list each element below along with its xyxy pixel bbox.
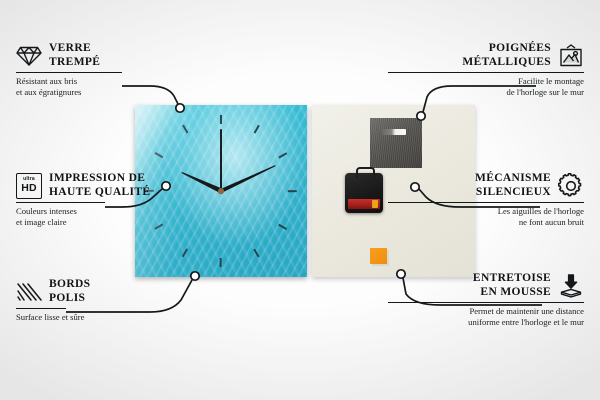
- feature-header: BORDS POLIS: [16, 278, 212, 305]
- clock-tick: [182, 249, 188, 258]
- feature-title: VERRE TREMPÉ: [49, 42, 100, 69]
- feature-bords-polis: BORDS POLIS Surface lisse et sûre: [16, 278, 212, 323]
- feature-header: ultra HD IMPRESSION DE HAUTE QUALITÉ: [16, 172, 212, 199]
- feature-divider: [388, 72, 584, 73]
- feature-header: MÉCANISME SILENCIEUX: [388, 172, 584, 199]
- feature-impression-haute-qualite: ultra HD IMPRESSION DE HAUTE QUALITÉ Cou…: [16, 172, 212, 228]
- battery-terminal: [372, 200, 378, 208]
- feature-title: ENTRETOISE EN MOUSSE: [473, 272, 551, 299]
- gear-icon: [558, 173, 584, 199]
- clock-tick: [254, 249, 260, 258]
- clock-tick: [155, 152, 164, 158]
- clock-center-hub: [218, 188, 224, 194]
- ultra-hd-icon: ultra HD: [16, 173, 42, 199]
- clock-tick: [220, 258, 222, 267]
- feature-header: VERRE TREMPÉ: [16, 42, 212, 69]
- feature-title: POIGNÉES MÉTALLIQUES: [462, 42, 551, 69]
- ultra-hd-icon-main-text: HD: [21, 183, 37, 194]
- feature-poignees-metalliques: POIGNÉES MÉTALLIQUES Facilite le: [388, 42, 584, 98]
- feature-divider: [16, 72, 122, 73]
- feature-entretoise-en-mousse: ENTRETOISE EN MOUSSE Permet de maintenir…: [388, 272, 584, 328]
- polished-edges-icon: [16, 279, 42, 305]
- hanger-slot: [382, 129, 406, 135]
- feature-divider: [388, 202, 584, 203]
- clock-tick: [254, 125, 260, 134]
- clock-second-hand: [220, 129, 221, 191]
- feature-mecanisme-silencieux: MÉCANISME SILENCIEUX Les aiguilles de l'…: [388, 172, 584, 228]
- diamond-icon: [16, 43, 42, 69]
- feature-divider: [16, 308, 66, 309]
- mechanism-hanging-tab: [356, 167, 375, 178]
- feature-description: Permet de maintenir une distance uniform…: [388, 306, 584, 327]
- feature-title: MÉCANISME SILENCIEUX: [475, 172, 551, 199]
- feature-verre-trempe: VERRE TREMPÉ Résistant aux bris et aux é…: [16, 42, 212, 98]
- metal-hanger-plate: [370, 118, 422, 168]
- feature-description: Résistant aux bris et aux égratignures: [16, 76, 212, 97]
- infographic-canvas: VERRE TREMPÉ Résistant aux bris et aux é…: [0, 0, 600, 400]
- foam-spacer-icon: [558, 273, 584, 299]
- foam-spacer-pad: [370, 248, 387, 264]
- clock-tick: [182, 125, 188, 134]
- feature-description: Facilite le montage de l'horloge sur le …: [388, 76, 584, 97]
- clock-mechanism-box: [345, 173, 383, 213]
- picture-hanger-icon: [558, 43, 584, 69]
- feature-description: Surface lisse et sûre: [16, 312, 212, 323]
- clock-tick: [279, 152, 288, 158]
- feature-divider: [16, 202, 105, 203]
- feature-title: BORDS POLIS: [49, 278, 90, 305]
- clock-tick: [220, 115, 222, 124]
- feature-description: Les aiguilles de l'horloge ne font aucun…: [388, 206, 584, 227]
- feature-title: IMPRESSION DE HAUTE QUALITÉ: [49, 172, 150, 199]
- clock-tick: [279, 224, 288, 230]
- clock-tick: [288, 190, 297, 192]
- battery: [348, 199, 380, 209]
- feature-description: Couleurs intenses et image claire: [16, 206, 212, 227]
- feature-header: POIGNÉES MÉTALLIQUES: [388, 42, 584, 69]
- feature-divider: [388, 302, 584, 303]
- clock-minute-hand: [220, 164, 276, 193]
- feature-header: ENTRETOISE EN MOUSSE: [388, 272, 584, 299]
